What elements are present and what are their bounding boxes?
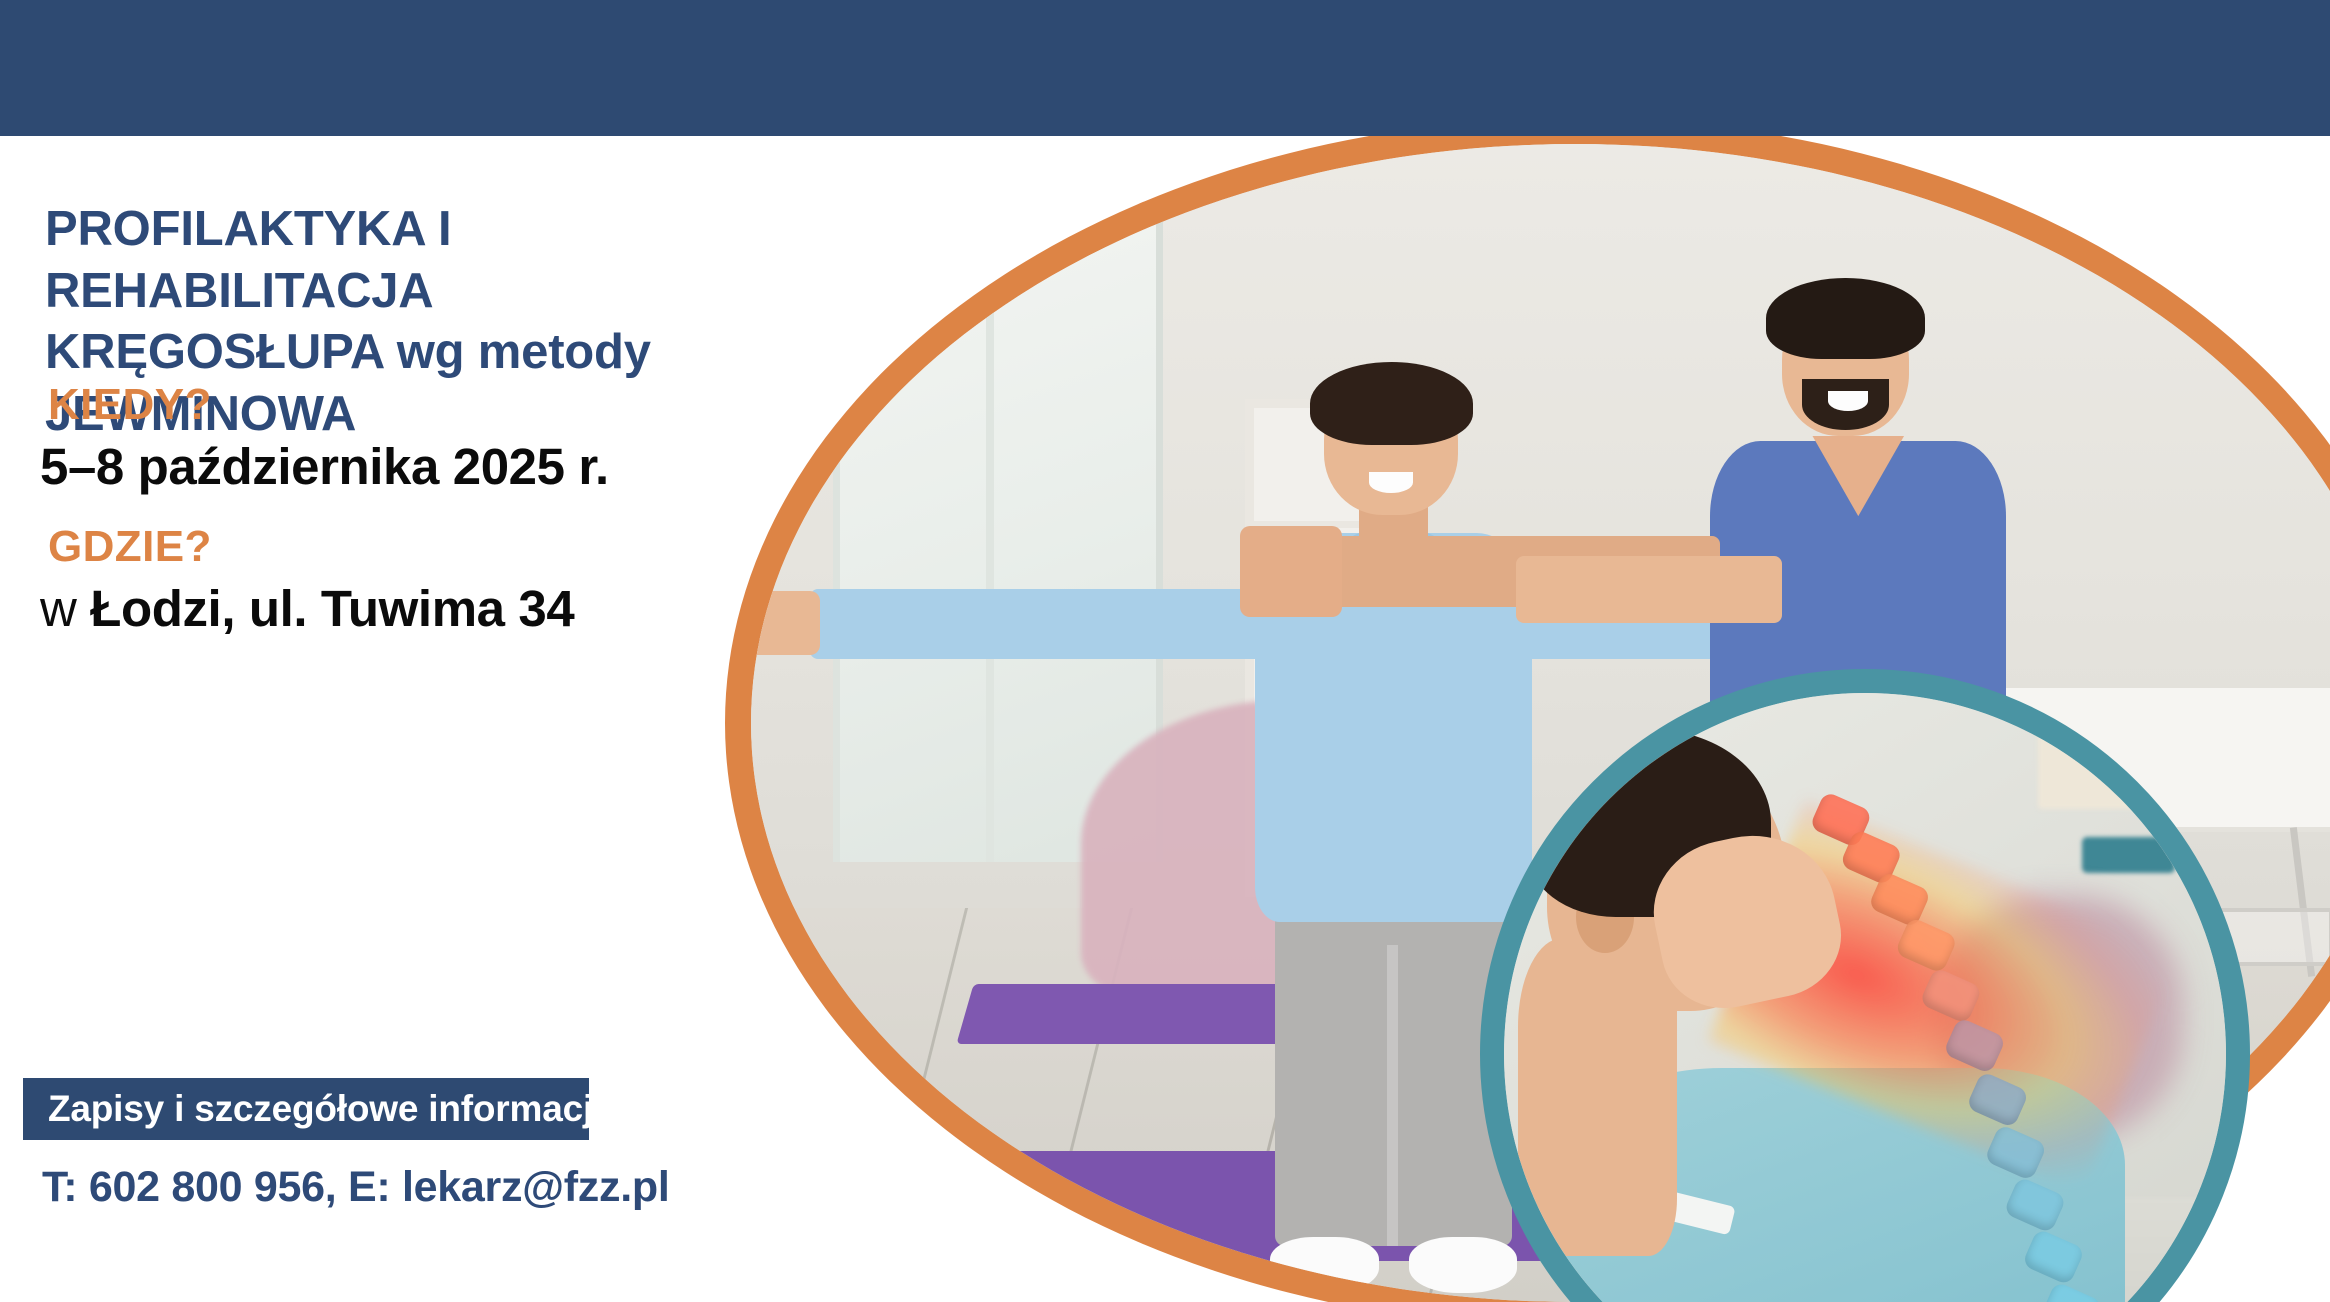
contact-bar: Zapisy i szczegółowe informacje:: [23, 1078, 589, 1140]
neck-pain-photo: [1504, 693, 2226, 1302]
subtitle-line-2: KRĘGOSŁUPA wg metody: [45, 322, 745, 384]
where-label: GDZIE?: [48, 522, 212, 572]
when-value: 5–8 października 2025 r.: [40, 437, 609, 496]
subtitle-line-1: PROFILAKTYKA I REHABILITACJA: [45, 199, 745, 322]
left-text-column: PROFILAKTYKA I REHABILITACJA KRĘGOSŁUPA …: [0, 136, 760, 1302]
neck-photo-circle: [1480, 669, 2250, 1302]
where-value-prefix: w: [40, 580, 90, 637]
contact-details[interactable]: T: 602 800 956, E: lekarz@fzz.pl: [42, 1163, 669, 1212]
header-band: [0, 0, 2330, 136]
artwork-area: [745, 136, 2330, 1302]
poster-root: ZDROWY KRĘGOSŁUP – szkolenie PROFILAKTYK…: [0, 0, 2330, 1302]
window: [833, 167, 1163, 862]
when-label: KIEDY?: [48, 380, 212, 430]
where-value-main: Łodzi, ul. Tuwima 34: [90, 580, 574, 637]
contact-bar-text: Zapisy i szczegółowe informacje:: [48, 1088, 626, 1130]
where-value: w Łodzi, ul. Tuwima 34: [40, 579, 574, 638]
